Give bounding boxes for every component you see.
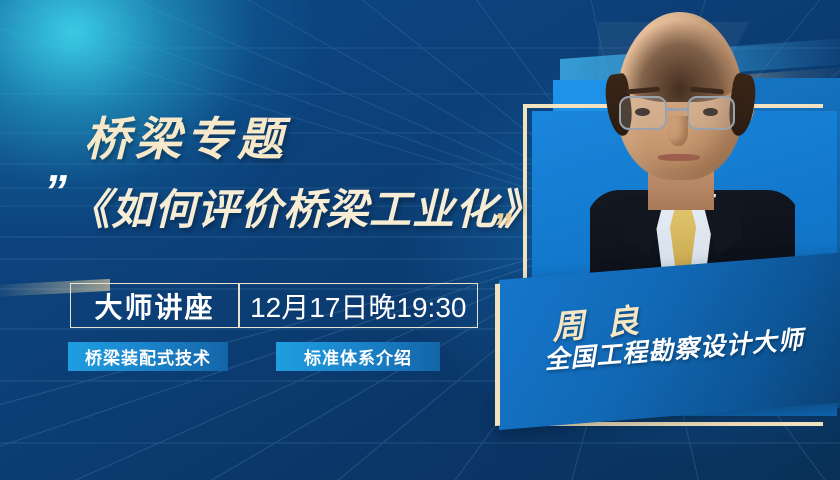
session-type-label: 大师讲座 <box>71 284 238 327</box>
nameplate-panel <box>499 252 840 430</box>
speaker-nameplate-block <box>495 0 840 480</box>
topic-tag[interactable]: 桥梁装配式技术 <box>68 342 228 371</box>
page-title: 桥梁专题 <box>84 103 288 169</box>
session-info-box: 大师讲座 12月17日晚19:30 <box>70 283 478 328</box>
nameplate-gold-bar <box>495 284 500 426</box>
page-subtitle: 《如何评价桥梁工业化》 <box>68 176 541 237</box>
webinar-poster: 周 良 全国工程勘察设计大师 桥梁专题 ” 《如何评价桥梁工业化》 ” 大师讲座… <box>0 0 840 480</box>
quote-open-mark: ” <box>44 168 65 214</box>
quote-close-mark: ” <box>492 208 510 248</box>
topic-tag[interactable]: 标准体系介绍 <box>276 342 440 371</box>
session-datetime: 12月17日晚19:30 <box>240 284 477 327</box>
